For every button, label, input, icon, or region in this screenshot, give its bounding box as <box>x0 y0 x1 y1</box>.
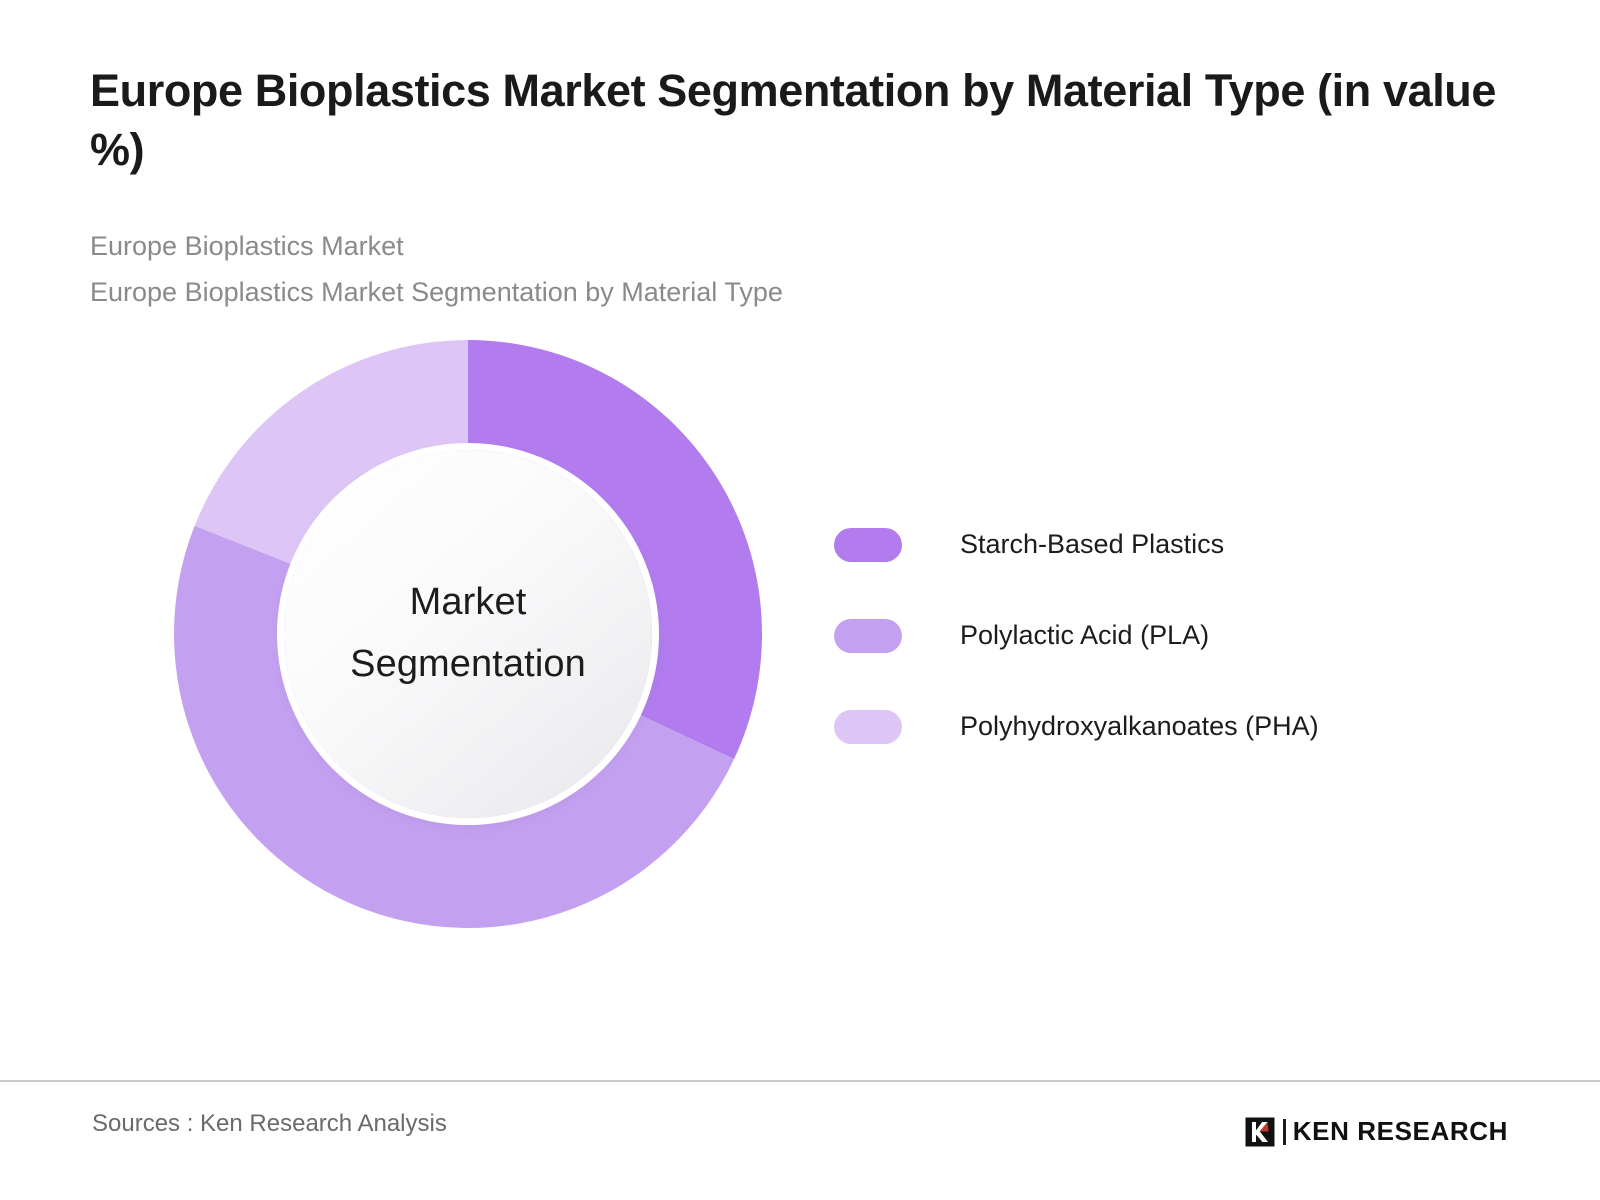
legend-item[interactable]: Starch-Based Plastics <box>834 528 1319 562</box>
chart-body: Market Segmentation Starch-Based Plastic… <box>0 316 1600 1080</box>
ken-research-k-mark-icon <box>1245 1117 1275 1147</box>
header: Europe Bioplastics Market Segmentation b… <box>0 0 1600 316</box>
page-title: Europe Bioplastics Market Segmentation b… <box>90 62 1504 179</box>
brand-logo: KEN RESEARCH <box>1245 1116 1508 1147</box>
subtitle-block: Europe Bioplastics Market Europe Bioplas… <box>90 223 1504 316</box>
donut-chart: Market Segmentation <box>174 340 762 928</box>
donut-center-line-2: Segmentation <box>350 634 586 696</box>
donut-center-line-1: Market <box>410 572 527 634</box>
subtitle-line-market: Europe Bioplastics Market <box>90 223 1504 269</box>
brand-name: KEN RESEARCH <box>1293 1116 1508 1147</box>
chart-legend: Starch-Based PlasticsPolylactic Acid (PL… <box>834 528 1319 744</box>
footer: Sources : Ken Research Analysis KEN RESE… <box>0 1080 1600 1200</box>
legend-item-label: Polylactic Acid (PLA) <box>960 620 1209 651</box>
legend-swatch-icon <box>834 619 902 653</box>
chart-page: Europe Bioplastics Market Segmentation b… <box>0 0 1600 1200</box>
legend-swatch-icon <box>834 528 902 562</box>
legend-swatch-icon <box>834 710 902 744</box>
legend-item-label: Starch-Based Plastics <box>960 529 1224 560</box>
legend-item[interactable]: Polyhydroxyalkanoates (PHA) <box>834 710 1319 744</box>
legend-item[interactable]: Polylactic Acid (PLA) <box>834 619 1319 653</box>
subtitle-line-segmentation: Europe Bioplastics Market Segmentation b… <box>90 269 1504 315</box>
donut-center-label: Market Segmentation <box>284 450 652 818</box>
sources-text: Sources : Ken Research Analysis <box>92 1110 447 1138</box>
brand-divider <box>1283 1119 1286 1145</box>
legend-item-label: Polyhydroxyalkanoates (PHA) <box>960 711 1319 742</box>
